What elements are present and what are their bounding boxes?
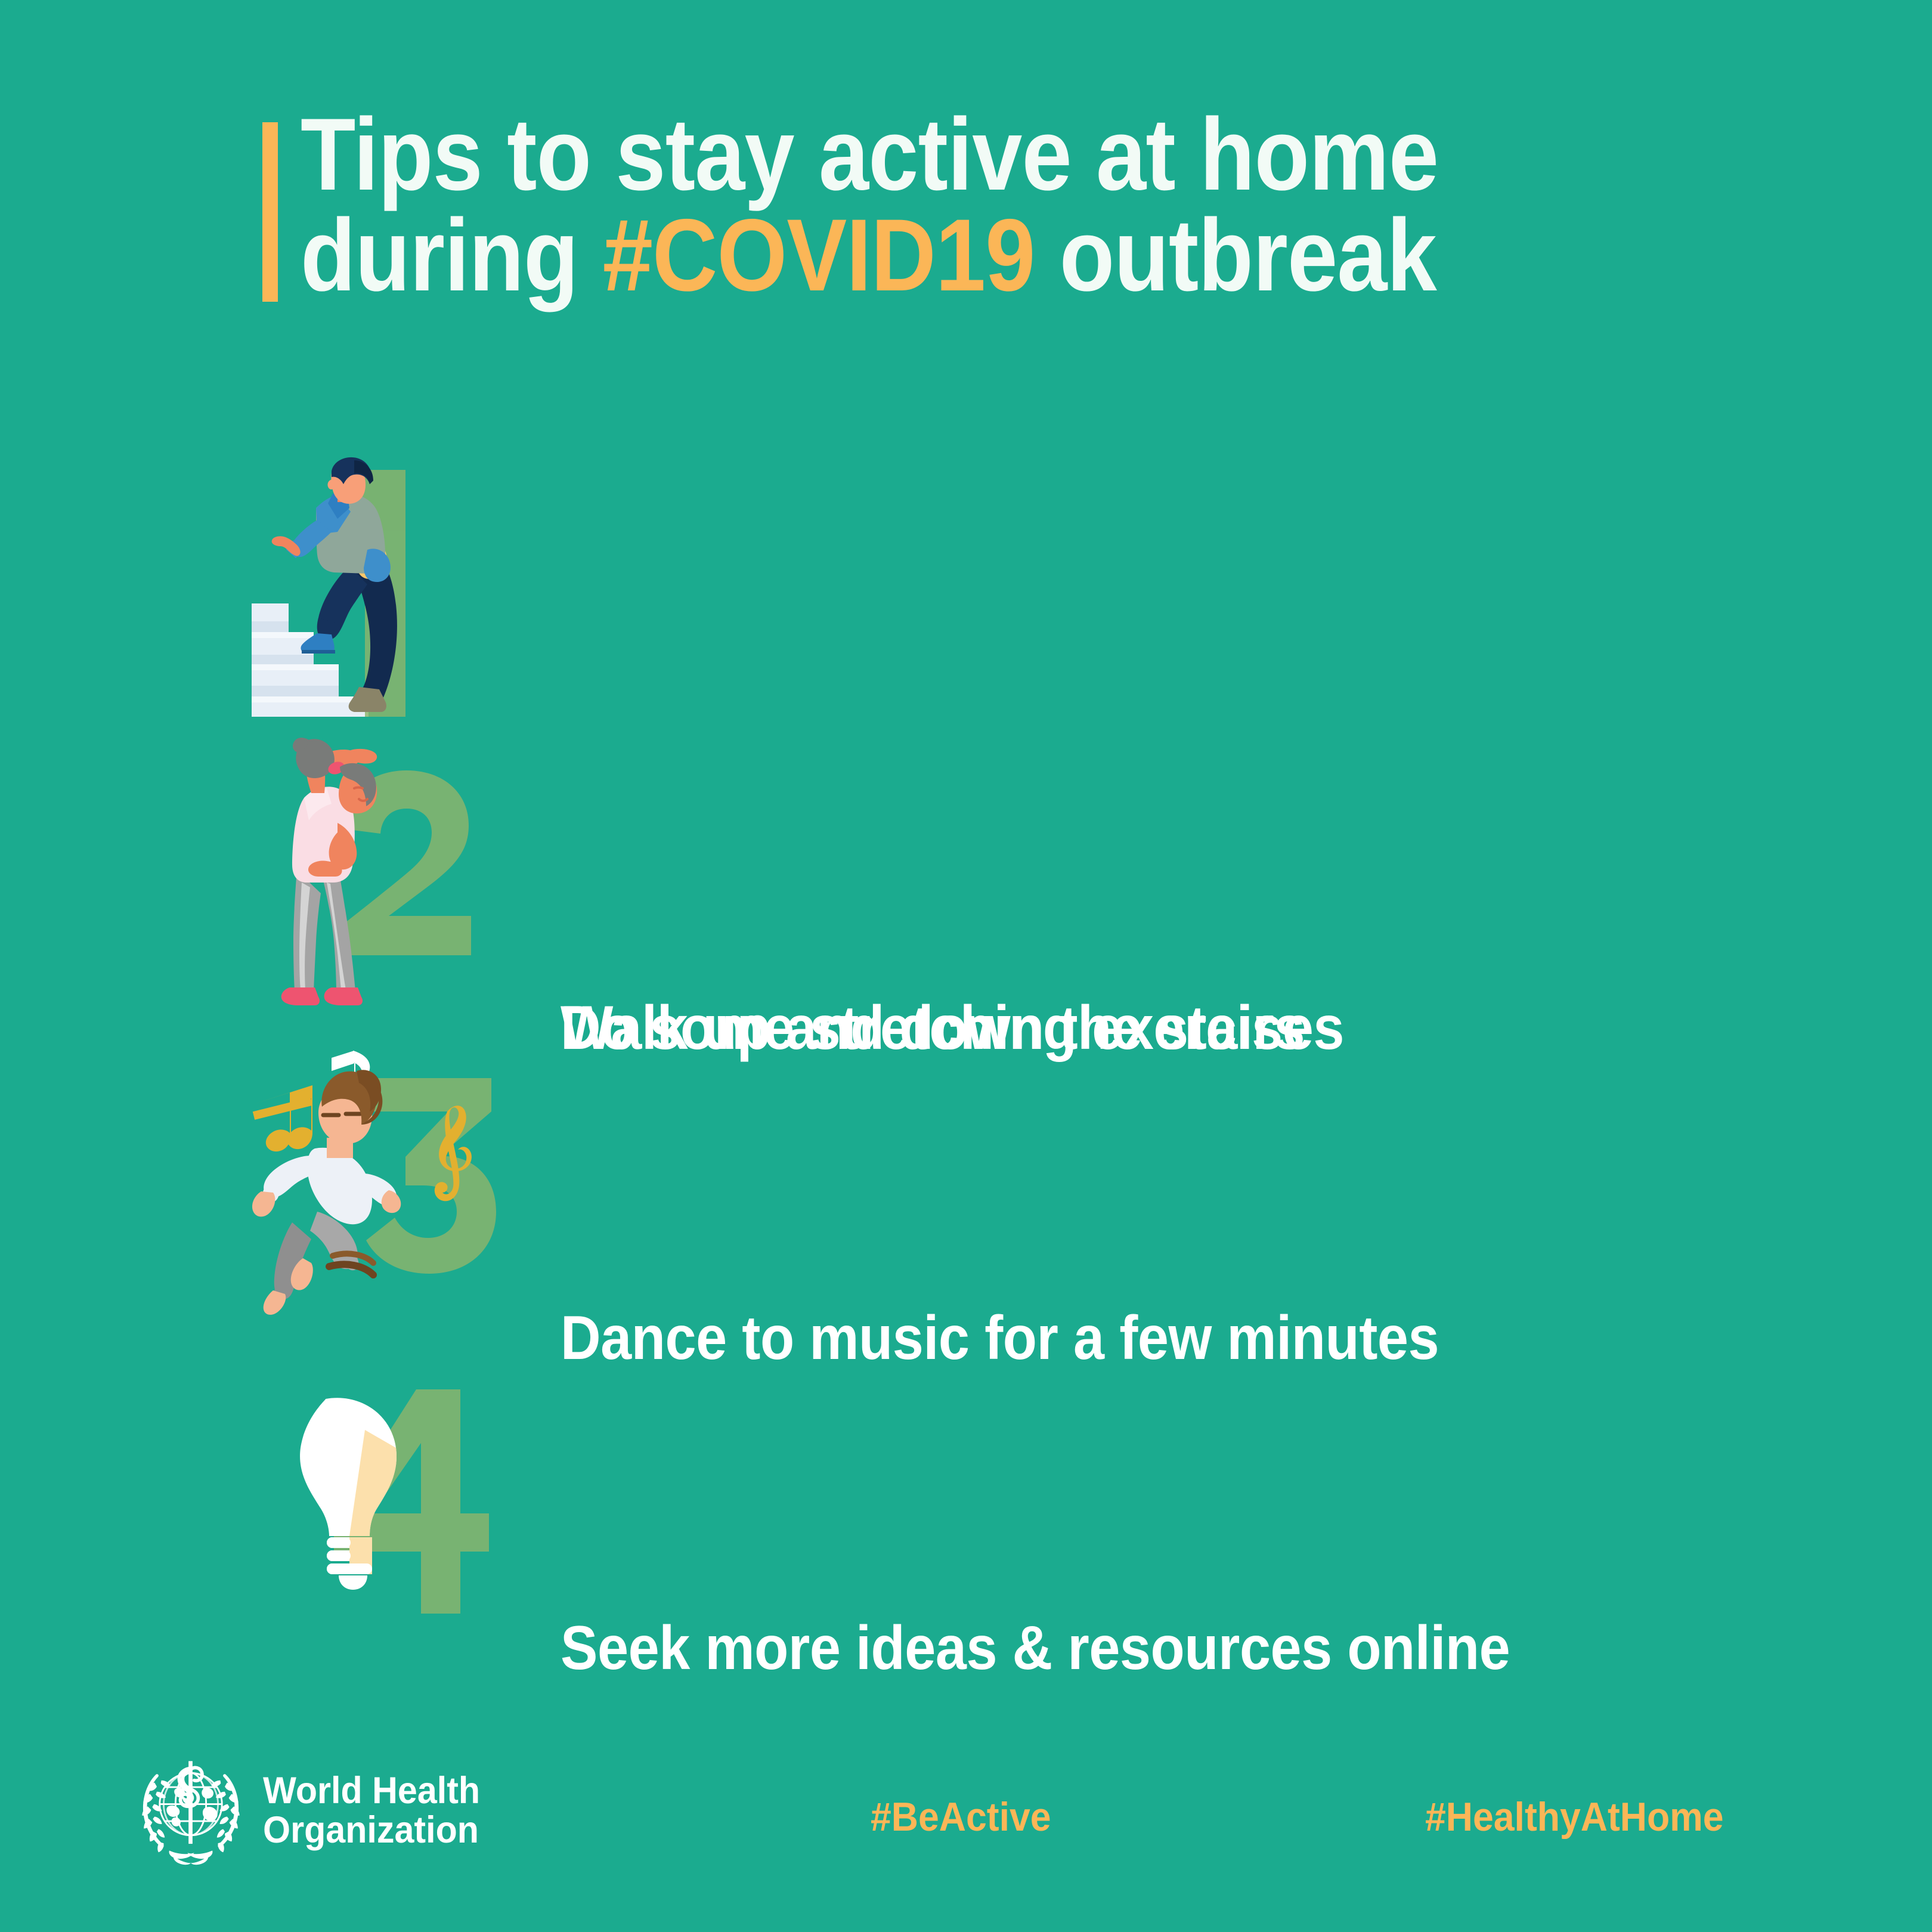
person-stretching-icon — [227, 733, 549, 1014]
tip-label: Seek more ideas & resources online — [561, 1613, 1510, 1684]
tip-row: Dance to music for a few minutes — [0, 1049, 1932, 1330]
page-title-line-2-post: outbreak — [1035, 198, 1436, 312]
title-accent-bar — [262, 122, 278, 302]
hashtag-healthyathome[interactable]: #HealthyAtHome — [1425, 1794, 1724, 1840]
who-emblem-icon — [134, 1754, 247, 1868]
page-title-line-1: Tips to stay active at home — [301, 104, 1438, 205]
lightbulb-icon — [227, 1366, 549, 1646]
tip-row: Walk up and down the stairs — [0, 453, 1932, 733]
who-wordmark: World Health Organization — [263, 1772, 480, 1850]
person-dancing-music-notes-icon — [227, 1049, 549, 1330]
person-climbing-stairs-icon — [227, 453, 549, 733]
tip-row: Do some stretching exercises — [0, 733, 1932, 1014]
hashtag-beactive[interactable]: #BeActive — [871, 1794, 1051, 1840]
tip-label: Dance to music for a few minutes — [561, 1303, 1439, 1374]
page-title: Tips to stay active at home during #COVI… — [301, 104, 1438, 305]
music-note-yellow-icon — [253, 1085, 312, 1151]
who-name-line-1: World Health — [263, 1772, 480, 1811]
who-name-line-2: Organization — [263, 1811, 480, 1850]
covid19-hashtag: #COVID19 — [603, 198, 1035, 312]
tip-row: Seek more ideas & resources online — [0, 1366, 1932, 1646]
page-title-line-2-pre: during — [301, 198, 603, 312]
page-title-line-2: during #COVID19 outbreak — [301, 205, 1438, 306]
footer: World Health Organization #BeActive #Hea… — [0, 1747, 1932, 1932]
page-title-block: Tips to stay active at home during #COVI… — [262, 104, 1693, 305]
who-logo: World Health Organization — [134, 1754, 494, 1868]
